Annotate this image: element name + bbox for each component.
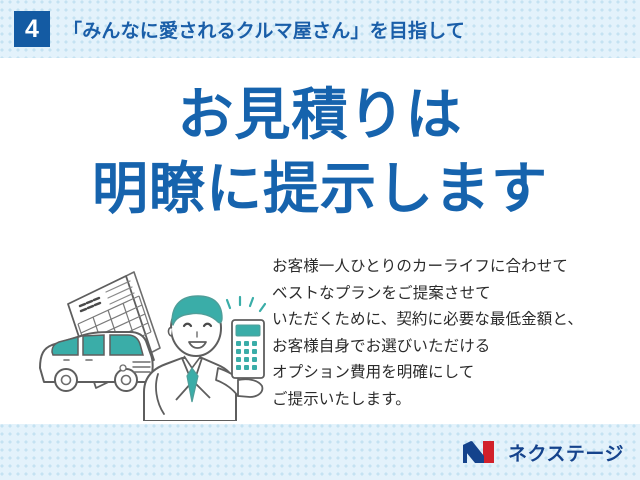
brand-logo-text: ネクステージ xyxy=(508,439,624,466)
headline-block: お見積りは 明瞭に提示します xyxy=(0,78,640,226)
body-line: ベストなプランをご提案させて xyxy=(272,281,632,308)
illustration xyxy=(26,256,266,421)
content-card: お見積りは 明瞭に提示します お客様一人ひとりのカーライフに合わせて ベストなプ… xyxy=(0,58,640,424)
illustration-svg xyxy=(26,256,266,421)
headline-line-2: 明瞭に提示します xyxy=(0,152,640,226)
footer-bar: ネクステージ xyxy=(0,424,640,480)
body-line: いただくために、契約に必要な最低金額と、 xyxy=(272,307,632,334)
banner-root: 4 「みんなに愛されるクルマ屋さん」を目指して お見積りは 明瞭に提示します お… xyxy=(0,0,640,480)
body-line: ご提示いたします。 xyxy=(272,387,632,414)
body-copy-block: お客様一人ひとりのカーライフに合わせて ベストなプランをご提案させて いただくた… xyxy=(272,254,632,413)
body-line: オプション費用を明確にして xyxy=(272,360,632,387)
section-number-badge: 4 xyxy=(14,11,50,47)
header-bar: 4 「みんなに愛されるクルマ屋さん」を目指して xyxy=(0,0,640,58)
sparkle-marks-icon xyxy=(227,297,265,311)
header-title: 「みんなに愛されるクルマ屋さん」を目指して xyxy=(63,16,465,43)
body-line: お客様自身でお選びいただける xyxy=(272,334,632,361)
brand-logo: ネクステージ xyxy=(461,439,624,466)
headline-line-1: お見積りは xyxy=(0,78,640,152)
nextage-n-logo-icon xyxy=(461,439,501,465)
body-line: お客様一人ひとりのカーライフに合わせて xyxy=(272,254,632,281)
van-vehicle-icon xyxy=(40,332,153,391)
calculator-icon xyxy=(232,320,264,378)
